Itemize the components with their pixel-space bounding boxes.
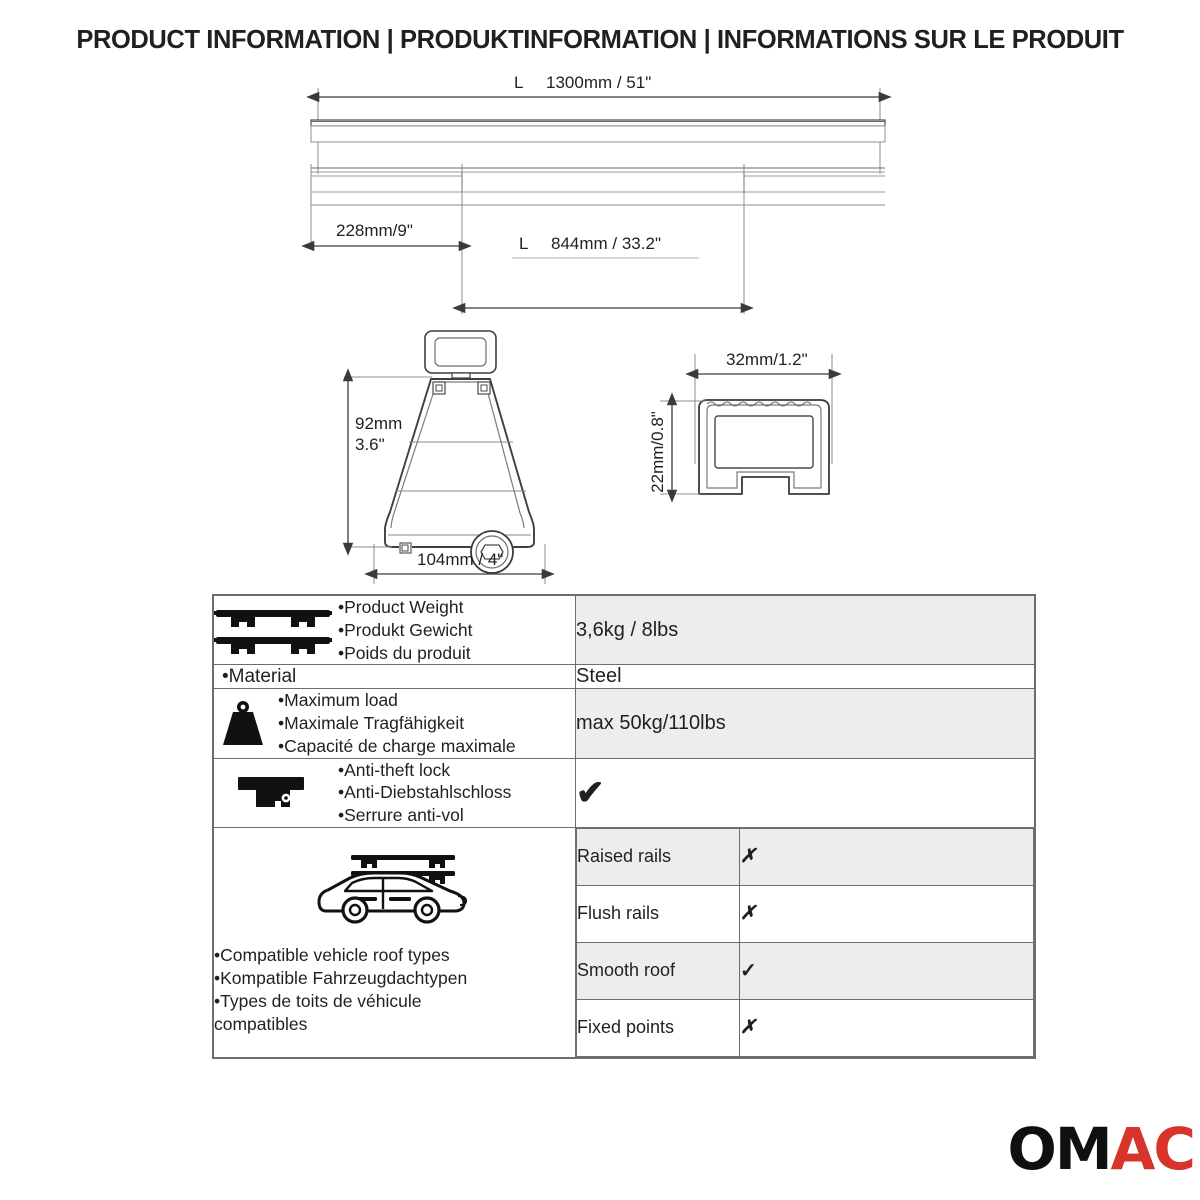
dimension-drawing-svg: L 1300mm / 51" 228mm/9" bbox=[0, 64, 1200, 584]
roof-type-row: Flush rails ✗ bbox=[577, 885, 1034, 942]
logo-text-om: OM bbox=[1008, 1115, 1111, 1183]
label-de: •Anti-Diebstahlschloss bbox=[338, 781, 511, 804]
roof-type-name-smooth-roof: Smooth roof bbox=[577, 942, 740, 999]
row-value-cell: 3,6kg / 8lbs bbox=[576, 596, 1035, 665]
weight-icon bbox=[214, 697, 272, 749]
page-title: PRODUCT INFORMATION | PRODUKTINFORMATION… bbox=[0, 26, 1200, 55]
row-label-cell: •Maximum load •Maximale Tragfähigkeit •C… bbox=[214, 689, 576, 758]
label-de: •Produkt Gewicht bbox=[338, 619, 473, 642]
foot-width-value: 104mm / 4" bbox=[417, 550, 503, 569]
technical-drawing: L 1300mm / 51" 228mm/9" bbox=[0, 64, 1200, 584]
spread-label-L: L bbox=[519, 234, 528, 253]
foot-height-line1: 92mm bbox=[355, 414, 402, 433]
specification-table: •Product Weight •Produkt Gewicht •Poids … bbox=[212, 594, 1036, 1059]
table-row: •Anti-theft lock •Anti-Diebstahlschloss … bbox=[214, 758, 1035, 827]
row-label-cell: •Product Weight •Produkt Gewicht •Poids … bbox=[214, 596, 576, 665]
row-value-cell: ✔ bbox=[576, 758, 1035, 827]
row-value-cell: max 50kg/110lbs bbox=[576, 689, 1035, 758]
label-de: •Maximale Tragfähigkeit bbox=[278, 712, 516, 735]
label-fr-cont: compatibles bbox=[214, 1013, 575, 1036]
crossbars-icon bbox=[214, 604, 332, 656]
roof-type-row: Raised rails ✗ bbox=[577, 828, 1034, 885]
max-load-value: max 50kg/110lbs bbox=[576, 712, 726, 734]
row-label-cell: •Material bbox=[214, 665, 576, 689]
roof-type-row: Smooth roof ✓ bbox=[577, 942, 1034, 999]
roof-type-mark-raised-rails: ✗ bbox=[740, 828, 1034, 885]
roof-types-table: Raised rails ✗ Flush rails ✗ bbox=[576, 828, 1034, 1057]
anti-theft-checkmark: ✔ bbox=[576, 774, 605, 812]
row-labels: •Anti-theft lock •Anti-Diebstahlschloss … bbox=[338, 759, 511, 827]
roof-type-name-raised-rails: Raised rails bbox=[577, 828, 740, 885]
product-information-page: PRODUCT INFORMATION | PRODUKTINFORMATION… bbox=[0, 0, 1200, 1200]
roof-type-mark-smooth-roof: ✓ bbox=[740, 942, 1034, 999]
cross-icon: ✗ bbox=[740, 846, 756, 867]
label-en: •Product Weight bbox=[338, 596, 473, 619]
cross-icon: ✗ bbox=[740, 903, 756, 924]
roof-types-matrix-cell: Raised rails ✗ Flush rails ✗ bbox=[576, 827, 1035, 1057]
label-fr: •Poids du produit bbox=[338, 642, 473, 665]
label-en: •Compatible vehicle roof types bbox=[214, 944, 575, 967]
foot-height-line2: 3.6" bbox=[355, 435, 385, 454]
table-row: •Compatible vehicle roof types •Kompatib… bbox=[214, 827, 1035, 1057]
roof-type-mark-flush-rails: ✗ bbox=[740, 885, 1034, 942]
bar-length-label-L: L bbox=[514, 73, 523, 92]
table-row: •Material Steel bbox=[214, 665, 1035, 689]
end-offset-value: 228mm/9" bbox=[336, 221, 413, 240]
roof-type-row: Fixed points ✗ bbox=[577, 999, 1034, 1056]
label-fr: •Serrure anti-vol bbox=[338, 804, 511, 827]
profile-width-value: 32mm/1.2" bbox=[726, 350, 808, 369]
profile-height-value: 22mm/0.8" bbox=[648, 411, 667, 493]
row-labels: •Maximum load •Maximale Tragfähigkeit •C… bbox=[278, 689, 516, 757]
roof-type-name-fixed-points: Fixed points bbox=[577, 999, 740, 1056]
label-fr: •Capacité de charge maximale bbox=[278, 735, 516, 758]
table-row: •Product Weight •Produkt Gewicht •Poids … bbox=[214, 596, 1035, 665]
row-label-cell: •Anti-theft lock •Anti-Diebstahlschloss … bbox=[214, 758, 576, 827]
lock-icon bbox=[214, 771, 332, 815]
label-de: •Kompatible Fahrzeugdachtypen bbox=[214, 967, 575, 990]
label-en: •Anti-theft lock bbox=[338, 759, 511, 782]
roof-type-mark-fixed-points: ✗ bbox=[740, 999, 1034, 1056]
roof-types-label-cell: •Compatible vehicle roof types •Kompatib… bbox=[214, 827, 576, 1057]
material-label: •Material bbox=[214, 666, 575, 688]
bar-length-value: 1300mm / 51" bbox=[546, 73, 651, 92]
material-value: Steel bbox=[576, 665, 622, 687]
roof-type-name-flush-rails: Flush rails bbox=[577, 885, 740, 942]
row-labels: •Product Weight •Produkt Gewicht •Poids … bbox=[338, 596, 473, 664]
product-weight-value: 3,6kg / 8lbs bbox=[576, 619, 678, 641]
spread-value: 844mm / 33.2" bbox=[551, 234, 661, 253]
table-row: •Maximum load •Maximale Tragfähigkeit •C… bbox=[214, 689, 1035, 758]
cross-icon: ✗ bbox=[740, 1017, 756, 1038]
omac-logo: OMAC bbox=[1008, 1120, 1194, 1178]
row-value-cell: Steel bbox=[576, 665, 1035, 689]
roof-types-labels: •Compatible vehicle roof types •Kompatib… bbox=[214, 944, 575, 1036]
car-with-rack-icon bbox=[214, 849, 575, 934]
logo-text-ac: AC bbox=[1111, 1115, 1194, 1183]
label-en: •Maximum load bbox=[278, 689, 516, 712]
label-fr: •Types de toits de véhicule bbox=[214, 990, 575, 1013]
check-icon: ✓ bbox=[740, 960, 757, 982]
